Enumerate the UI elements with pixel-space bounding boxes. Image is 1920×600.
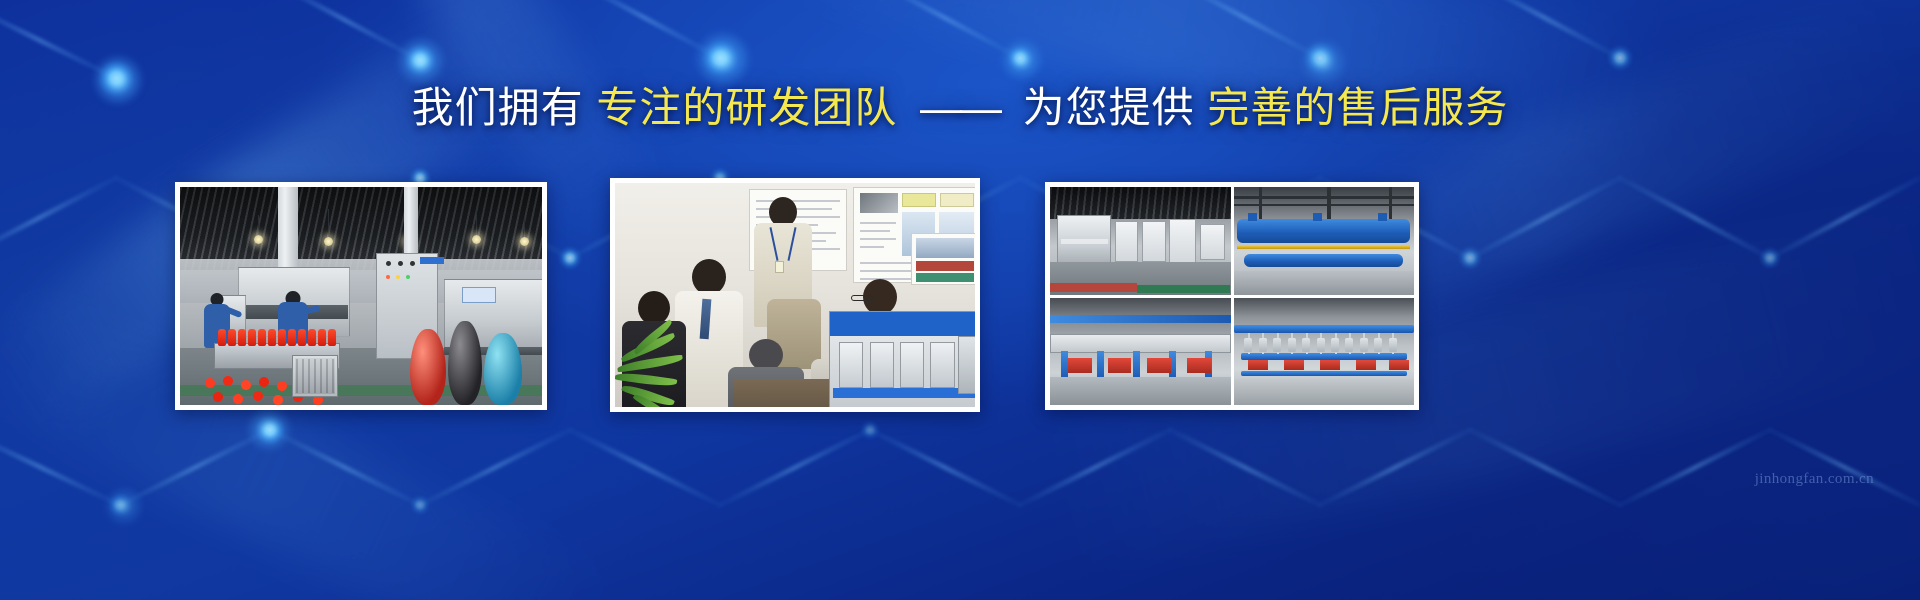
photo-equipment-collage [1050, 187, 1414, 405]
photo-panel-equipment-collage[interactable] [1045, 182, 1419, 410]
collage-cell-factory-hall [1050, 187, 1231, 295]
banner-headline: 我们拥有 专注的研发团队 —— 为您提供 完善的售后服务 [0, 83, 1920, 133]
glasses-icon [851, 295, 873, 301]
headline-segment-white-1: 我们拥有 [412, 84, 584, 131]
foreground-plant [615, 333, 707, 407]
headline-segment-yellow-2: 完善的售后服务 [1207, 84, 1508, 131]
photo-panel-production-line[interactable] [175, 182, 547, 410]
inset-machinery [829, 311, 975, 407]
hero-banner: 我们拥有 专注的研发团队 —— 为您提供 完善的售后服务 [0, 0, 1920, 600]
photo-panel-team-meeting[interactable] [610, 178, 980, 412]
headline-segment-yellow-1: 专注的研发团队 [596, 84, 897, 131]
photo-production-line [180, 187, 542, 405]
collage-cell-conveyor-line [1050, 298, 1231, 406]
site-watermark: jinhongfan.com.cn [1755, 471, 1874, 488]
photo-team-meeting [615, 183, 975, 407]
collage-cell-blue-oven [1234, 187, 1415, 295]
headline-segment-white-2: 为您提供 [1023, 84, 1195, 131]
collage-cell-hanging-rack [1234, 298, 1415, 406]
headline-dash: —— [910, 83, 1010, 133]
